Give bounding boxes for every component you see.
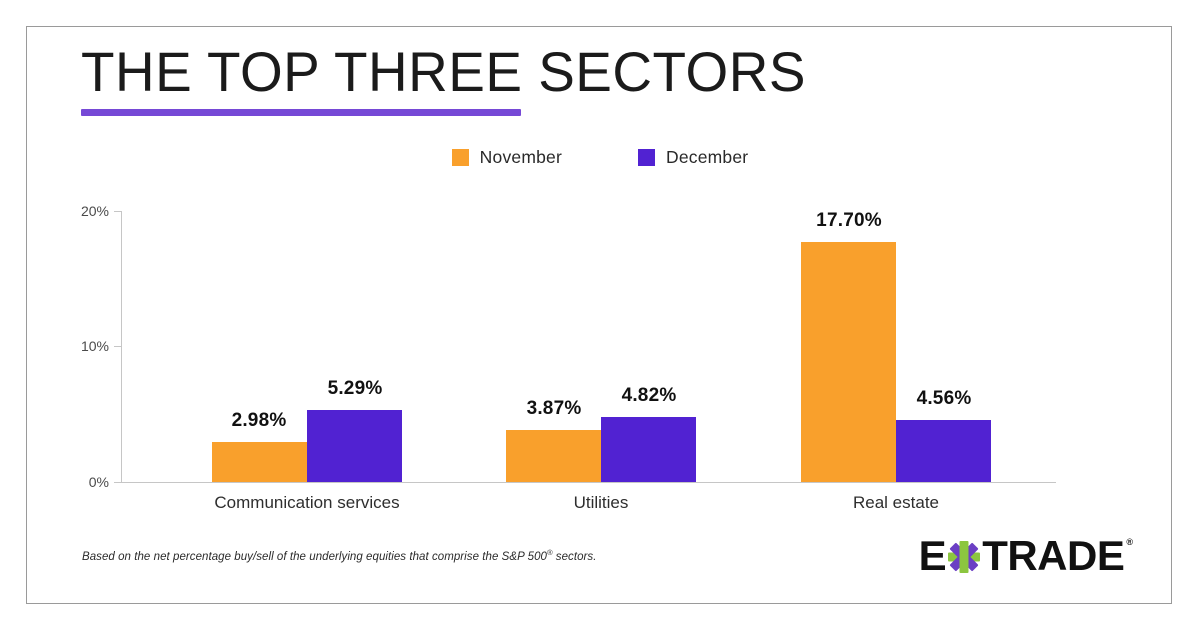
x-category-label-utilities: Utilities [574, 493, 629, 513]
bar-utilities-december[interactable] [601, 417, 696, 482]
bar-value-label-communication-services-december: 5.29% [328, 378, 383, 400]
bar-value-label-real-estate-december: 4.56% [917, 388, 972, 410]
x-category-label-communication-services: Communication services [214, 493, 399, 513]
bars-layer [27, 27, 1173, 482]
logo-letter-e: E [919, 535, 947, 577]
x-axis-baseline [121, 482, 1056, 483]
etrade-logo: E TRADE ® [919, 535, 1133, 577]
footnote-text-main: Based on the net percentage buy/sell of … [82, 551, 547, 563]
slide-frame: THE TOP THREE SECTORS November December … [26, 26, 1172, 604]
bar-real-estate-november[interactable] [801, 242, 896, 482]
footnote: Based on the net percentage buy/sell of … [82, 548, 596, 563]
footnote-text-tail: sectors. [553, 551, 597, 563]
etrade-asterisk-icon [947, 535, 981, 577]
y-tick-mark-0 [114, 482, 122, 483]
bar-communication-services-december[interactable] [307, 410, 402, 482]
bar-value-label-utilities-november: 3.87% [527, 398, 582, 420]
bar-real-estate-december[interactable] [896, 420, 991, 482]
logo-word-trade: TRADE [982, 535, 1124, 577]
x-category-label-real-estate: Real estate [853, 493, 939, 513]
bar-value-label-utilities-december: 4.82% [622, 385, 677, 407]
bar-value-label-communication-services-november: 2.98% [232, 410, 287, 432]
bar-communication-services-november[interactable] [212, 442, 307, 482]
bar-utilities-november[interactable] [506, 430, 601, 482]
bar-value-label-real-estate-november: 17.70% [816, 210, 882, 232]
logo-registered-icon: ® [1126, 537, 1133, 547]
bar-chart-plot: 20% 10% 0% 2.98% 5.29% 3.87% 4.82% 17.70… [27, 27, 1173, 605]
